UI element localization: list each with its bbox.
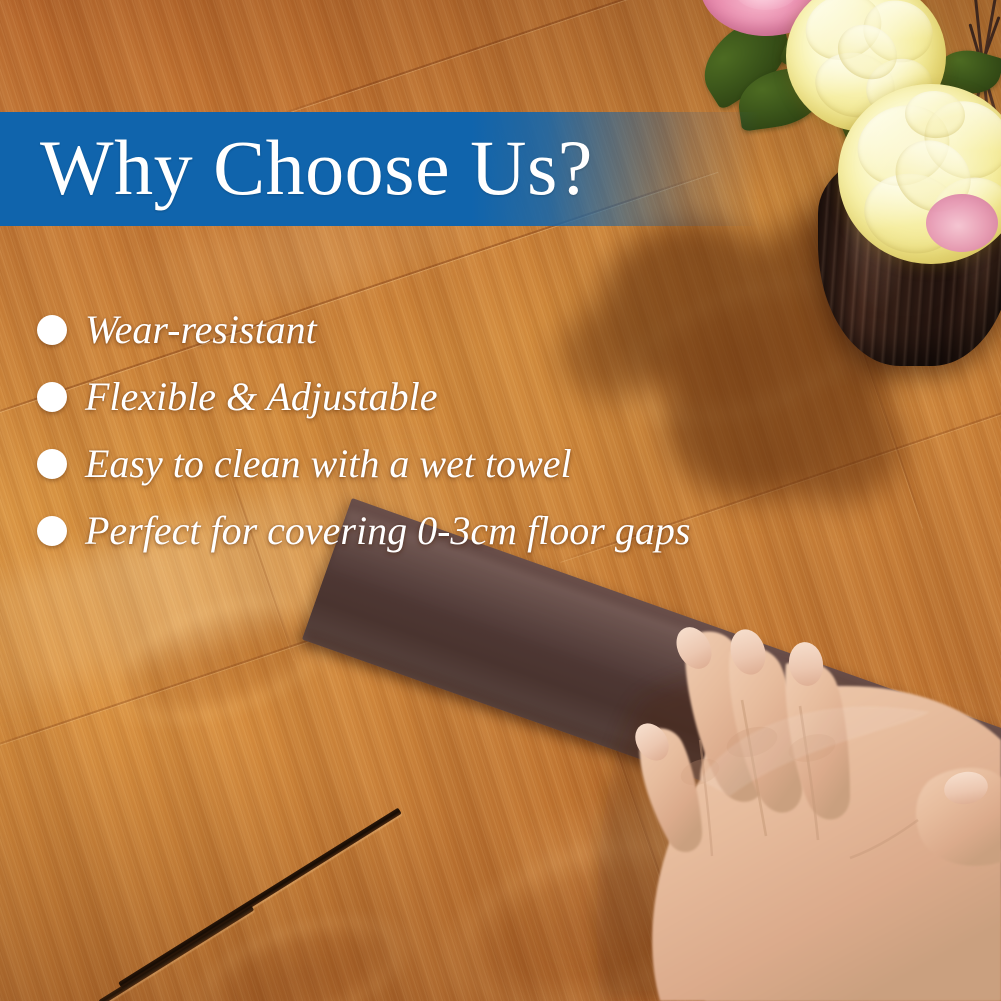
feature-item: Easy to clean with a wet towel — [0, 430, 860, 497]
feature-label: Perfect for covering 0-3cm floor gaps — [85, 509, 690, 553]
pink-rose — [926, 194, 998, 252]
feature-label: Wear-resistant — [85, 308, 317, 352]
bullet-icon — [37, 315, 67, 345]
feature-item: Flexible & Adjustable — [0, 363, 860, 430]
feature-list: Wear-resistant Flexible & Adjustable Eas… — [0, 296, 860, 564]
bullet-icon — [37, 516, 67, 546]
feature-label: Flexible & Adjustable — [85, 375, 438, 419]
feature-label: Easy to clean with a wet towel — [85, 442, 572, 486]
page-title: Why Choose Us? — [40, 112, 593, 226]
bullet-icon — [37, 382, 67, 412]
feature-item: Perfect for covering 0-3cm floor gaps — [0, 497, 860, 564]
bullet-icon — [37, 449, 67, 479]
product-marketing-image: Why Choose Us? Wear-resistant Flexible &… — [0, 0, 1001, 1001]
feature-item: Wear-resistant — [0, 296, 860, 363]
